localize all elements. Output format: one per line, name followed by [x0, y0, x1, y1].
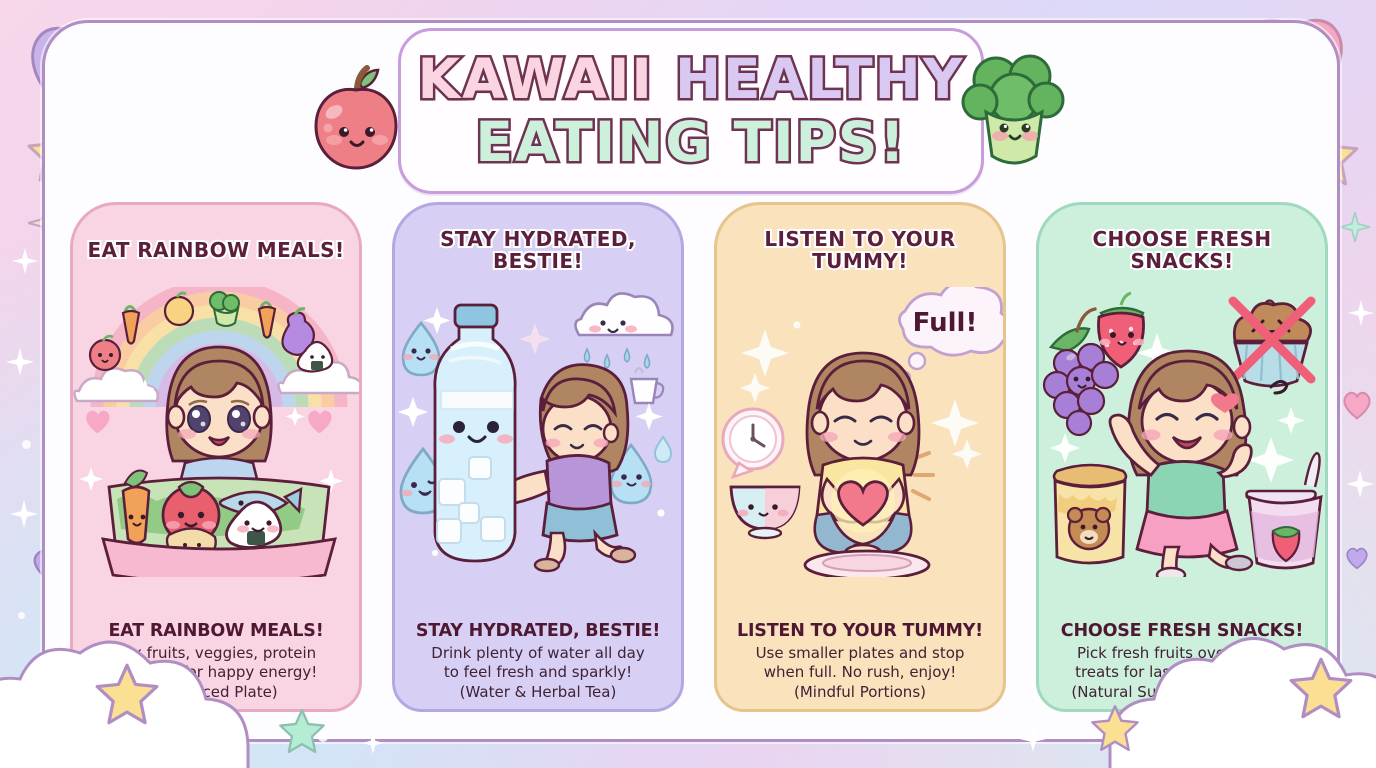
- sparkle-icon: [12, 248, 38, 274]
- title-word-healthy: HEALTHY: [675, 47, 964, 111]
- sparkle-icon: [1278, 407, 1305, 434]
- card-header: LISTEN TO YOUR TUMMY!: [717, 217, 1003, 283]
- caption-line-2: when full. No rush, enjoy!: [727, 663, 993, 683]
- dot-decoration: [793, 321, 800, 328]
- heart-icon: [1340, 390, 1374, 425]
- caption-line-3: (Mindful Portions): [727, 683, 993, 703]
- sparkle-icon: [931, 399, 979, 447]
- caption-title: LISTEN TO YOUR TUMMY!: [727, 621, 993, 641]
- water-droplet-icon: [655, 437, 671, 462]
- speech-text: Full!: [913, 308, 978, 338]
- caption-title: STAY HYDRATED, BESTIE!: [405, 621, 671, 641]
- card-header: STAY HYDRATED, BESTIE!: [395, 217, 681, 283]
- rain-cloud-icon: [575, 293, 672, 368]
- heart-icon: [308, 411, 331, 433]
- caption-line-3: (Water & Herbal Tea): [405, 683, 671, 703]
- bento-box-icon: [103, 471, 335, 577]
- card-header: CHOOSE FRESH SNACKS!: [1039, 217, 1325, 283]
- dot-decoration: [657, 509, 664, 516]
- sparkle-icon: [398, 397, 428, 427]
- caption-line-1: Use smaller plates and stop: [727, 644, 993, 664]
- star-icon: [94, 661, 160, 732]
- girl-character: [1110, 351, 1252, 577]
- water-bottle-icon: [435, 305, 515, 561]
- sparkle-icon: [1346, 470, 1374, 498]
- plate-icon: [805, 551, 929, 577]
- caption-line-1: Drink plenty of water all day: [405, 644, 671, 664]
- water-droplet-icon: [403, 323, 439, 375]
- dot-decoration: [432, 550, 438, 556]
- card-illustration: Full!: [717, 287, 1003, 577]
- caption-line-2: to feel fresh and sparkly!: [405, 663, 671, 683]
- apple-icon: [304, 62, 408, 179]
- tip-card-stay-hydrated[interactable]: STAY HYDRATED, BESTIE!: [392, 202, 684, 712]
- thought-bubble: Full!: [899, 287, 1003, 382]
- honey-jar-icon: [1054, 465, 1126, 563]
- girl-character: [807, 353, 919, 561]
- sparkle-icon: [10, 500, 38, 528]
- sparkle-icon: [740, 373, 770, 403]
- heart-icon: [86, 411, 109, 433]
- sparkle-icon: [952, 439, 982, 469]
- poster-root: KAWAII HEALTHY EATING TIPS!: [0, 0, 1376, 768]
- card-header: EAT RAINBOW MEALS!: [73, 217, 359, 283]
- title-line-2: EATING TIPS!: [475, 115, 906, 170]
- dot-decoration: [318, 732, 328, 742]
- girl-character: [501, 365, 635, 571]
- card-header-label: LISTEN TO YOUR TUMMY!: [717, 228, 1003, 273]
- sparkle-icon: [1050, 433, 1080, 463]
- yogurt-cup-icon: [1247, 453, 1322, 568]
- bowl-icon: [731, 487, 799, 538]
- title-banner: KAWAII HEALTHY EATING TIPS!: [398, 28, 984, 194]
- sparkle-icon: [1248, 437, 1294, 483]
- card-illustration: [1039, 287, 1325, 577]
- card-header-label: EAT RAINBOW MEALS!: [87, 239, 344, 261]
- cupcake-crossed-out-icon: [1233, 300, 1311, 386]
- card-header-label: CHOOSE FRESH SNACKS!: [1039, 228, 1325, 273]
- dot-decoration: [22, 440, 31, 449]
- clock-icon: [723, 409, 783, 477]
- sparkle-icon: [741, 329, 789, 377]
- title-word-kawaii: KAWAII: [417, 47, 675, 111]
- card-illustration: [73, 287, 359, 577]
- girl-character: [167, 347, 272, 487]
- card-caption: STAY HYDRATED, BESTIE! Drink plenty of w…: [395, 621, 681, 703]
- heart-icon: [1344, 546, 1370, 575]
- sparkle-icon: [636, 403, 663, 430]
- sparkle-icon: [286, 407, 305, 426]
- sparkle-icon: [1348, 300, 1374, 326]
- dot-decoration: [18, 612, 25, 619]
- card-illustration: [395, 287, 681, 577]
- strawberry-icon: [1098, 293, 1144, 367]
- sparkle-icon: [6, 348, 34, 376]
- sparkle-icon: [79, 467, 103, 491]
- star-icon: [1090, 703, 1140, 758]
- sparkle-icon: [519, 323, 551, 355]
- cloud-icon: [0, 629, 400, 768]
- title-line-1: KAWAII HEALTHY: [417, 52, 964, 107]
- broccoli-icon: [952, 46, 1076, 185]
- teacup-icon: [631, 368, 663, 403]
- star-icon: [1288, 655, 1354, 726]
- card-header-label: STAY HYDRATED, BESTIE!: [395, 228, 681, 273]
